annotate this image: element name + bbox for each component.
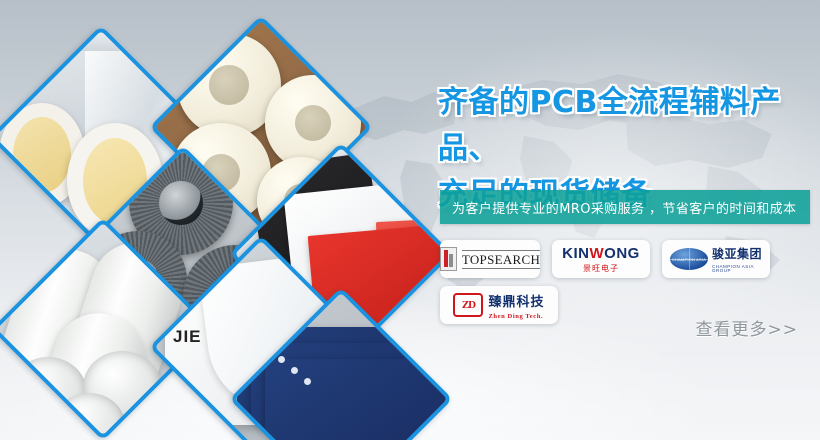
divider <box>462 268 540 269</box>
champion-asia-chinese-name: 骏亚集团 <box>712 245 762 262</box>
kinwong-part-w: W <box>590 245 605 262</box>
kinwong-chinese-name: 景旺电子 <box>583 265 619 273</box>
view-more-link[interactable]: 查看更多>> <box>696 315 799 340</box>
zhen-ding-mark-icon: ZD <box>453 293 483 317</box>
topsearch-wordmark: TOPSEARCH <box>462 251 540 268</box>
logo-zhen-ding[interactable]: ZD 臻鼎科技 Zhen Ding Tech. <box>440 286 558 324</box>
globe-label: CHAMPION ASIA <box>672 257 706 262</box>
kinwong-part-a: KIN <box>562 245 589 262</box>
kinwong-wordmark: KINWONG <box>562 245 640 262</box>
kinwong-part-b: ONG <box>604 245 640 262</box>
champion-asia-globe-icon: CHAMPION ASIA <box>670 248 708 270</box>
champion-asia-english-name: CHAMPION ASIA GROUP <box>712 265 762 274</box>
topsearch-mark-icon <box>440 247 457 271</box>
logo-topsearch[interactable]: TOPSEARCH <box>440 240 540 278</box>
banner-content: 齐备的PCB全流程辅料产品、 充足的现货储备 为客户提供专业的MRO采购服务 ，… <box>430 0 820 440</box>
banner-subtitle-text: 为客户提供专业的MRO采购服务 ，节省客户的时间和成本 <box>440 198 796 217</box>
zhen-ding-chinese-name: 臻鼎科技 <box>488 291 544 310</box>
zhen-ding-mark-text: ZD <box>462 299 475 311</box>
logo-row-1: TOPSEARCH KINWONG 景旺电子 CHAMPION ASIA <box>440 240 820 278</box>
product-collage: JIE <box>0 0 430 440</box>
promo-banner: JIE 齐备的PCB全流程辅料产品、 充足的现货储备 为客户提供专业的MRO采购… <box>0 0 820 440</box>
headline-line-1: 齐备的PCB全流程辅料产品、 <box>438 85 781 166</box>
logo-kinwong[interactable]: KINWONG 景旺电子 <box>552 240 650 278</box>
zhen-ding-english-name: Zhen Ding Tech. <box>488 313 544 320</box>
release-paper-caption: JIE <box>173 327 202 347</box>
logo-champion-asia[interactable]: CHAMPION ASIA 骏亚集团 CHAMPION ASIA GROUP <box>662 240 770 278</box>
banner-subtitle-bar: 为客户提供专业的MRO采购服务 ，节省客户的时间和成本 <box>440 190 810 224</box>
